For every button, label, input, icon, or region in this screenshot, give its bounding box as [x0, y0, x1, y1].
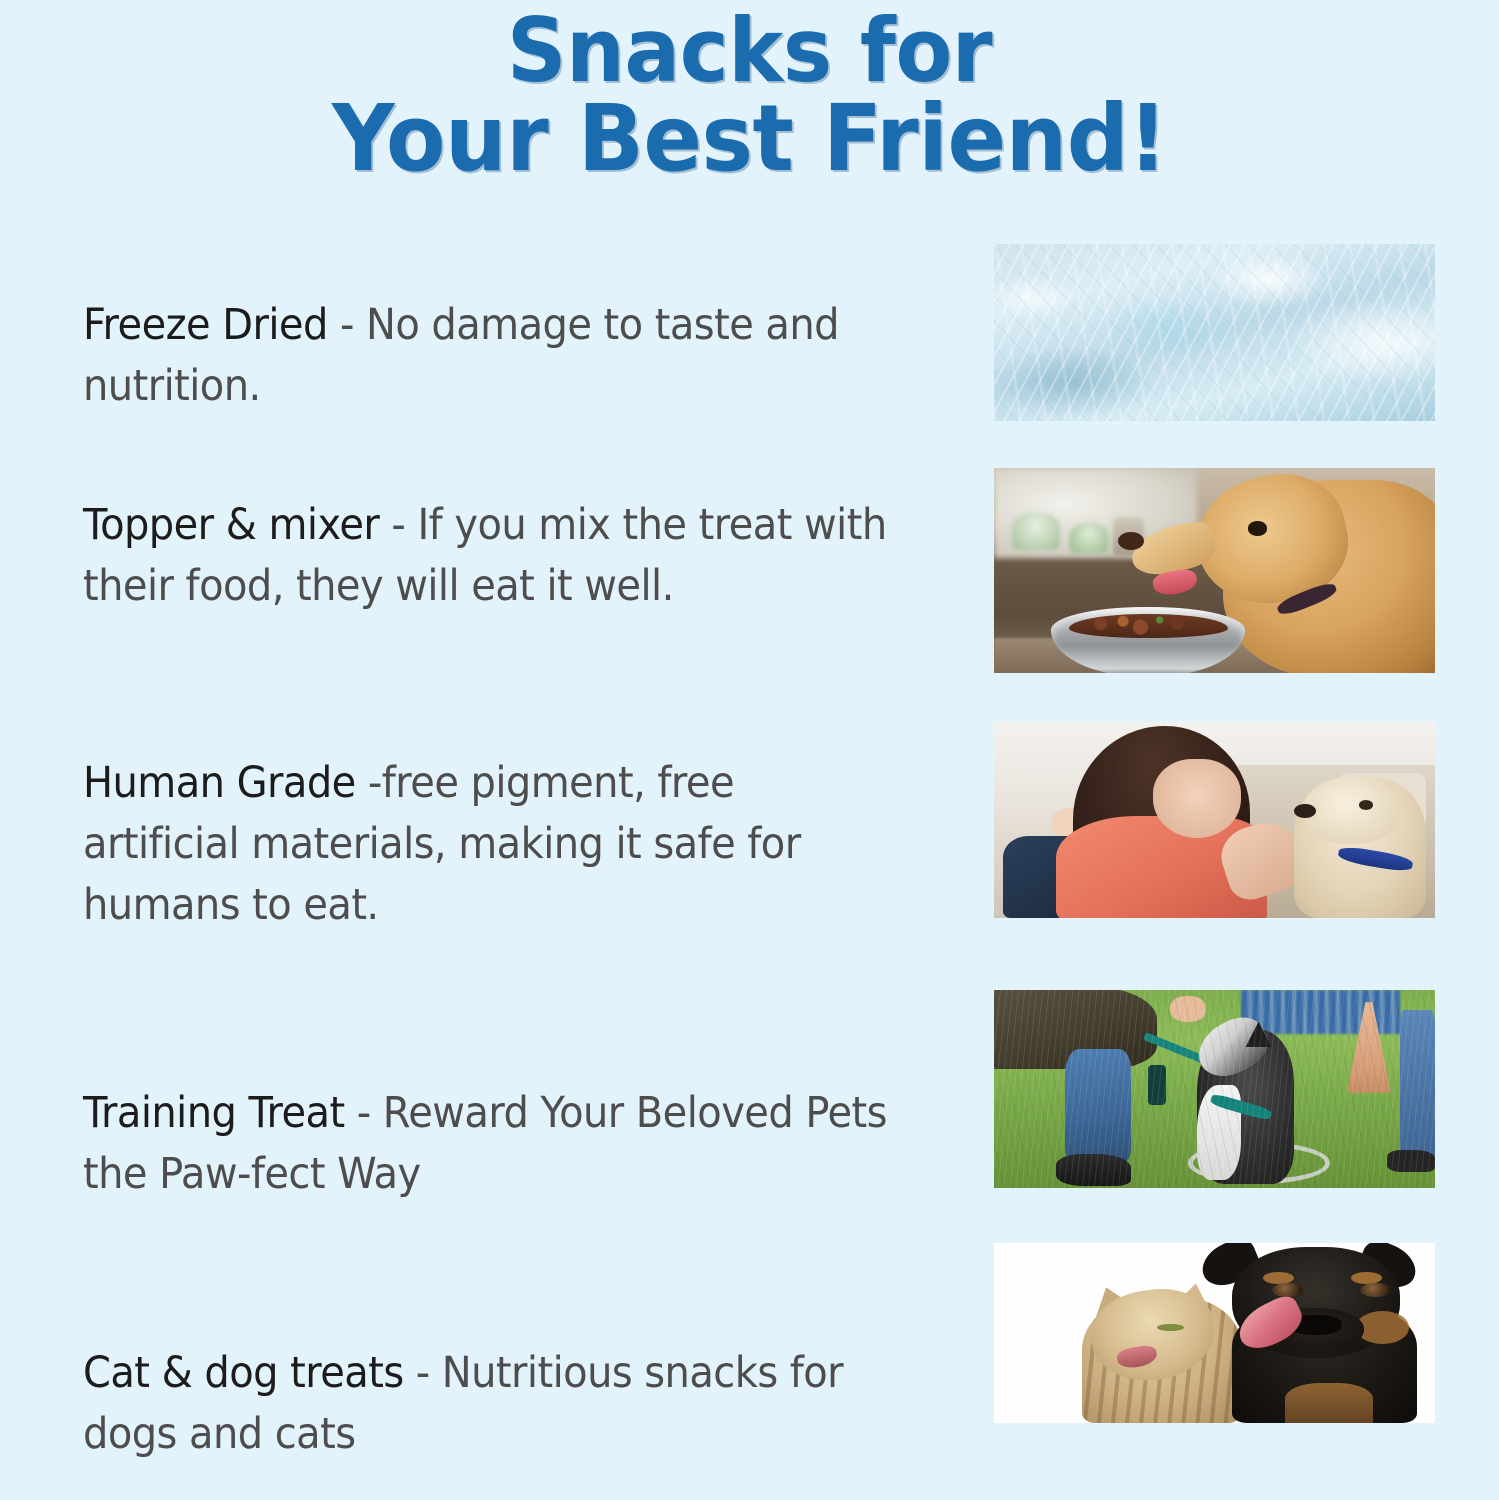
feature-lead: Human Grade: [83, 758, 356, 808]
bystander-shoe: [1387, 1150, 1436, 1172]
training-hoop: [1188, 1142, 1330, 1184]
trainer-hand: [1170, 996, 1205, 1022]
bystander-legs: [1400, 1010, 1435, 1164]
feature-item-text: Cat & dog treats - Nutritious snacks for…: [83, 1343, 892, 1465]
page-title: Snacks for Your Best Friend!: [0, 8, 1499, 184]
clicker: [1148, 1065, 1166, 1105]
plant: [1012, 513, 1061, 550]
golden-retriever-bowl-photo: [994, 468, 1435, 673]
dog-eye: [1360, 1283, 1391, 1297]
page-title-line-1: Snacks for: [45, 8, 1454, 94]
grass-field-background: [994, 990, 1435, 1188]
woman-feeding-dog-photo: [994, 722, 1435, 918]
puppy-head: [1303, 777, 1400, 844]
trainer-jacket: [994, 990, 1157, 1069]
feature-item-text: Human Grade -free pigment, free artifici…: [83, 753, 892, 936]
cat-eye: [1157, 1324, 1183, 1331]
husky-ear: [1245, 1022, 1271, 1048]
ice-surface: [994, 244, 1435, 421]
trainer-boot: [1056, 1154, 1131, 1186]
kitchen-background: [994, 468, 1435, 673]
feature-lead: Topper & mixer: [83, 500, 379, 550]
training-cone: [1347, 1002, 1391, 1093]
blue-fence: [1241, 990, 1400, 1034]
feature-lead: Training Treat: [83, 1088, 345, 1138]
white-background: [994, 1243, 1435, 1423]
woman-face: [1153, 759, 1241, 837]
living-room-background: [994, 722, 1435, 918]
puppy-nose: [1294, 804, 1316, 818]
ice-texture-photo: [994, 244, 1435, 421]
page-title-line-2: Your Best Friend!: [45, 94, 1454, 184]
feature-list: Freeze Dried - No damage to taste and nu…: [0, 232, 1499, 1472]
feature-item-text: Training Treat - Reward Your Beloved Pet…: [83, 1083, 892, 1205]
husky-chest: [1197, 1085, 1241, 1180]
feature-lead: Freeze Dried: [83, 300, 328, 350]
trainer-jeans: [1065, 1049, 1131, 1164]
husky-body: [1197, 1030, 1294, 1184]
husky-harness: [1210, 1093, 1273, 1121]
dog-chest-marking: [1285, 1383, 1373, 1423]
dog-training-grass-photo: [994, 990, 1435, 1188]
plant: [1069, 523, 1109, 554]
dog-eye: [1248, 521, 1268, 535]
feature-lead: Cat & dog treats: [83, 1348, 404, 1398]
dog-food: [1069, 614, 1228, 639]
dog-nose: [1118, 532, 1144, 550]
feature-item-text: Freeze Dried - No damage to taste and nu…: [83, 295, 892, 417]
dog-eye: [1272, 1283, 1303, 1297]
husky-head: [1189, 1008, 1275, 1087]
feature-item-text: Topper & mixer - If you mix the treat wi…: [83, 495, 892, 617]
cat-and-dog-photo: [994, 1243, 1435, 1423]
leash: [1143, 1032, 1260, 1086]
